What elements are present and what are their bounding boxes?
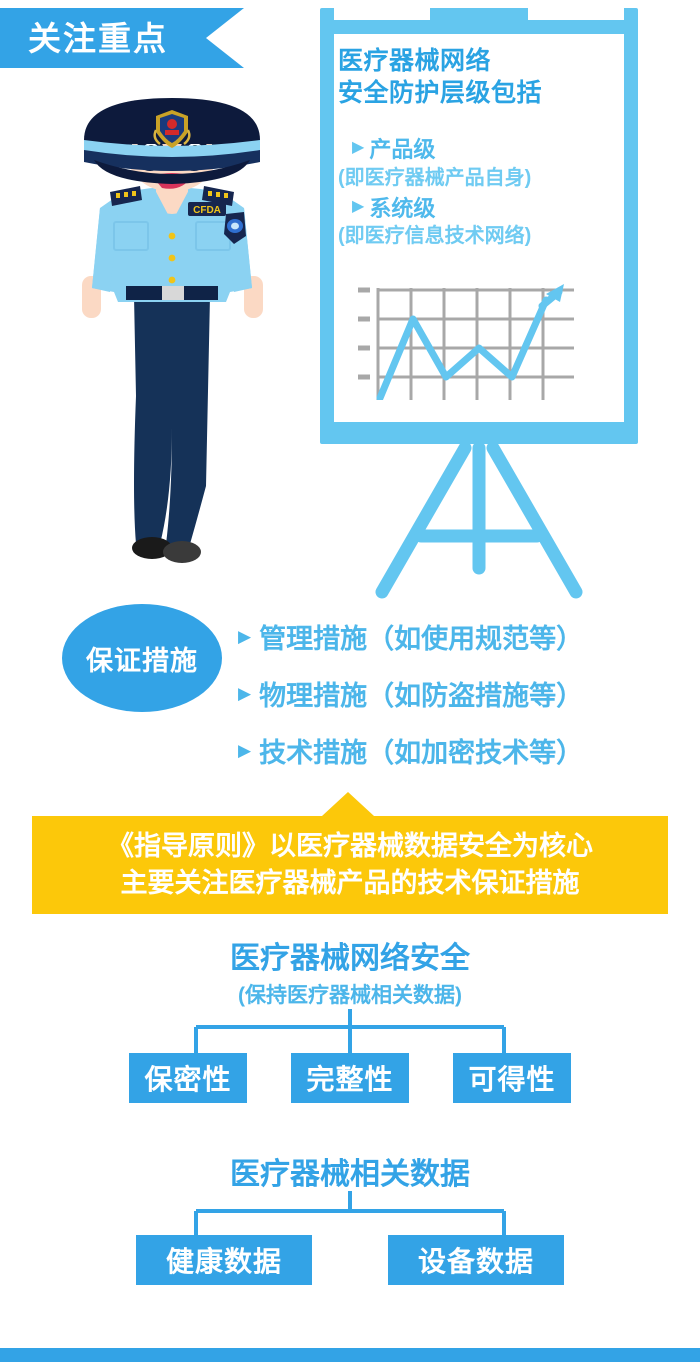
measures-badge: 保证措施 xyxy=(62,604,222,712)
infographic-page: 关注重点 医疗器械网络 安全防护层级包括 ▶ 产品级 (即医疗器械产品自身) ▶… xyxy=(0,0,700,1362)
bottom-accent-bar xyxy=(0,1348,700,1362)
tree-security-node-label: 保密性 xyxy=(144,1058,231,1098)
whiteboard-clip xyxy=(430,8,528,34)
whiteboard-bullet-1-note: (即医疗器械产品自身) xyxy=(338,165,610,191)
tree-security-node-label: 可得性 xyxy=(468,1058,555,1098)
measures-item-label: 技术措施（如加密技术等） xyxy=(259,731,583,770)
trend-line-chart-svg xyxy=(356,280,576,400)
tree-data-node-label: 设备数据 xyxy=(418,1240,534,1280)
measures-list: ▶ 管理措施（如使用规范等） ▶ 物理措施（如防盗措施等） ▶ 技术措施（如加密… xyxy=(238,608,688,779)
easel-legs xyxy=(320,444,638,604)
highlight-banner-line1: 《指导原则》以医疗器械数据安全为核心 xyxy=(107,828,593,865)
triangle-bullet-icon: ▶ xyxy=(352,195,364,219)
chart-y-ticks xyxy=(358,290,370,377)
tree-security-node[interactable]: 保密性 xyxy=(129,1053,247,1103)
tree-security-connector xyxy=(0,1009,700,1053)
header-ribbon: 关注重点 xyxy=(0,8,244,68)
header-ribbon-label: 关注重点 xyxy=(0,22,168,55)
whiteboard-clip-right-gap xyxy=(528,8,624,20)
measures-item: ▶ 管理措施（如使用规范等） xyxy=(238,608,688,665)
tree-data-node[interactable]: 健康数据 xyxy=(136,1235,312,1285)
whiteboard-bullet-2: ▶ 系统级 xyxy=(338,195,610,223)
highlight-banner: 《指导原则》以医疗器械数据安全为核心 主要关注医疗器械产品的技术保证措施 xyxy=(32,816,668,914)
tree-data-title: 医疗器械相关数据 xyxy=(0,1158,700,1191)
officer-belt xyxy=(126,286,218,300)
highlight-banner-line2: 主要关注医疗器械产品的技术保证措施 xyxy=(121,865,580,902)
easel-leg-left xyxy=(382,448,465,592)
tree-data-nodes: 健康数据 设备数据 xyxy=(0,1235,700,1285)
officer-svg: CFDA xyxy=(48,96,296,576)
easel-legs-svg xyxy=(320,444,638,604)
tree-data-node[interactable]: 设备数据 xyxy=(388,1235,564,1285)
triangle-bullet-icon: ▶ xyxy=(352,136,364,160)
triangle-bullet-icon: ▶ xyxy=(238,684,251,704)
tree-security-node[interactable]: 完整性 xyxy=(291,1053,409,1103)
whiteboard-bullet-1: ▶ 产品级 xyxy=(338,136,610,164)
measures-item: ▶ 技术措施（如加密技术等） xyxy=(238,722,688,779)
whiteboard-bullet-2-label: 系统级 xyxy=(369,195,435,223)
tree-data-node-label: 健康数据 xyxy=(166,1240,282,1280)
tree-security-connector-svg xyxy=(0,1009,700,1053)
whiteboard-bullets: ▶ 产品级 (即医疗器械产品自身) ▶ 系统级 (即医疗信息技术网络) xyxy=(338,136,610,253)
measures-item-label: 管理措施（如使用规范等） xyxy=(259,617,583,656)
tree-data: 医疗器械相关数据 健康数据 设备数据 xyxy=(0,1158,700,1285)
whiteboard-title-line2: 安全防护层级包括 xyxy=(338,78,606,110)
tree-security-node-label: 完整性 xyxy=(306,1058,393,1098)
whiteboard-title: 医疗器械网络 安全防护层级包括 xyxy=(338,46,606,109)
tree-security-nodes: 保密性 完整性 可得性 xyxy=(0,1053,700,1103)
measures-item-label: 物理措施（如防盗措施等） xyxy=(259,674,583,713)
whiteboard-easel: 医疗器械网络 安全防护层级包括 ▶ 产品级 (即医疗器械产品自身) ▶ 系统级 … xyxy=(320,8,680,598)
tree-data-connector-svg xyxy=(0,1191,700,1235)
whiteboard-frame: 医疗器械网络 安全防护层级包括 ▶ 产品级 (即医疗器械产品自身) ▶ 系统级 … xyxy=(320,8,638,444)
easel-leg-right xyxy=(493,448,576,592)
highlight-banner-pointer-icon xyxy=(322,792,374,816)
triangle-bullet-icon: ▶ xyxy=(238,627,251,647)
trend-line-chart xyxy=(356,280,576,400)
whiteboard-bullet-1-label: 产品级 xyxy=(369,136,435,164)
tree-security-title: 医疗器械网络安全 xyxy=(0,942,700,975)
tree-security: 医疗器械网络安全 (保持医疗器械相关数据) 保密性 完整性 可得性 xyxy=(0,942,700,1103)
officer-name-tag: CFDA xyxy=(188,202,226,216)
measures-item: ▶ 物理措施（如防盗措施等） xyxy=(238,665,688,722)
svg-text:CFDA: CFDA xyxy=(193,205,221,216)
whiteboard-bullet-2-note: (即医疗信息技术网络) xyxy=(338,223,610,249)
tree-data-connector xyxy=(0,1191,700,1235)
whiteboard-clip-left-gap xyxy=(334,8,430,20)
tree-security-subtitle: (保持医疗器械相关数据) xyxy=(0,979,700,1009)
officer-trousers xyxy=(134,296,210,544)
cfda-officer-illustration: CFDA xyxy=(48,96,296,576)
whiteboard-title-line1: 医疗器械网络 xyxy=(338,46,606,78)
measures-badge-label: 保证措施 xyxy=(86,639,198,678)
tree-security-node[interactable]: 可得性 xyxy=(453,1053,571,1103)
triangle-bullet-icon: ▶ xyxy=(238,741,251,761)
